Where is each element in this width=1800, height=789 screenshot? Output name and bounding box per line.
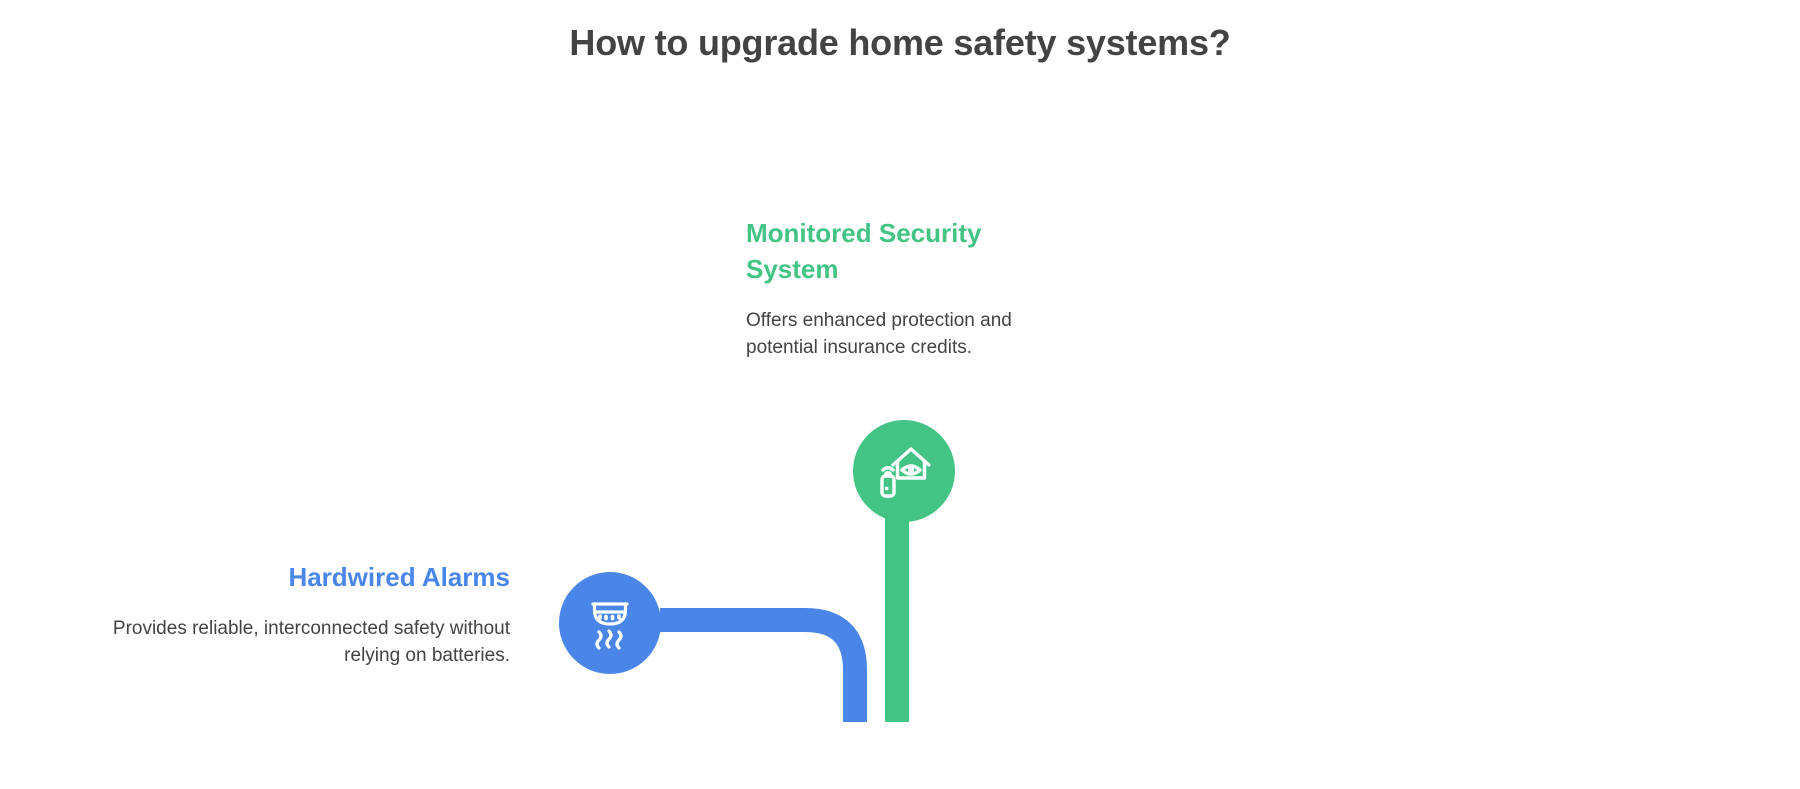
- node-icon-monitored-security-system[interactable]: [853, 420, 955, 522]
- house-eye-remote-icon: [871, 438, 937, 504]
- remote-button-icon: [885, 487, 889, 491]
- eye-pupil-icon: [908, 467, 914, 473]
- text-block-hardwired-alarms: Hardwired Alarms Provides reliable, inte…: [90, 560, 510, 670]
- node-body-hardwired-alarms: Provides reliable, interconnected safety…: [90, 616, 510, 670]
- node-heading-hardwired-alarms: Hardwired Alarms: [90, 560, 510, 596]
- node-heading-monitored-security-system: Monitored Security System: [746, 216, 1056, 288]
- node-icon-hardwired-alarms[interactable]: [559, 572, 661, 674]
- text-block-monitored-security-system: Monitored Security System Offers enhance…: [746, 216, 1056, 362]
- connector-lines: [0, 0, 1800, 789]
- node-body-monitored-security-system: Offers enhanced protection and potential…: [746, 308, 1056, 362]
- blue-connector: [660, 620, 855, 722]
- infographic-root: How to upgrade home safety systems?: [0, 0, 1800, 789]
- smoke-detector-icon: [579, 592, 641, 654]
